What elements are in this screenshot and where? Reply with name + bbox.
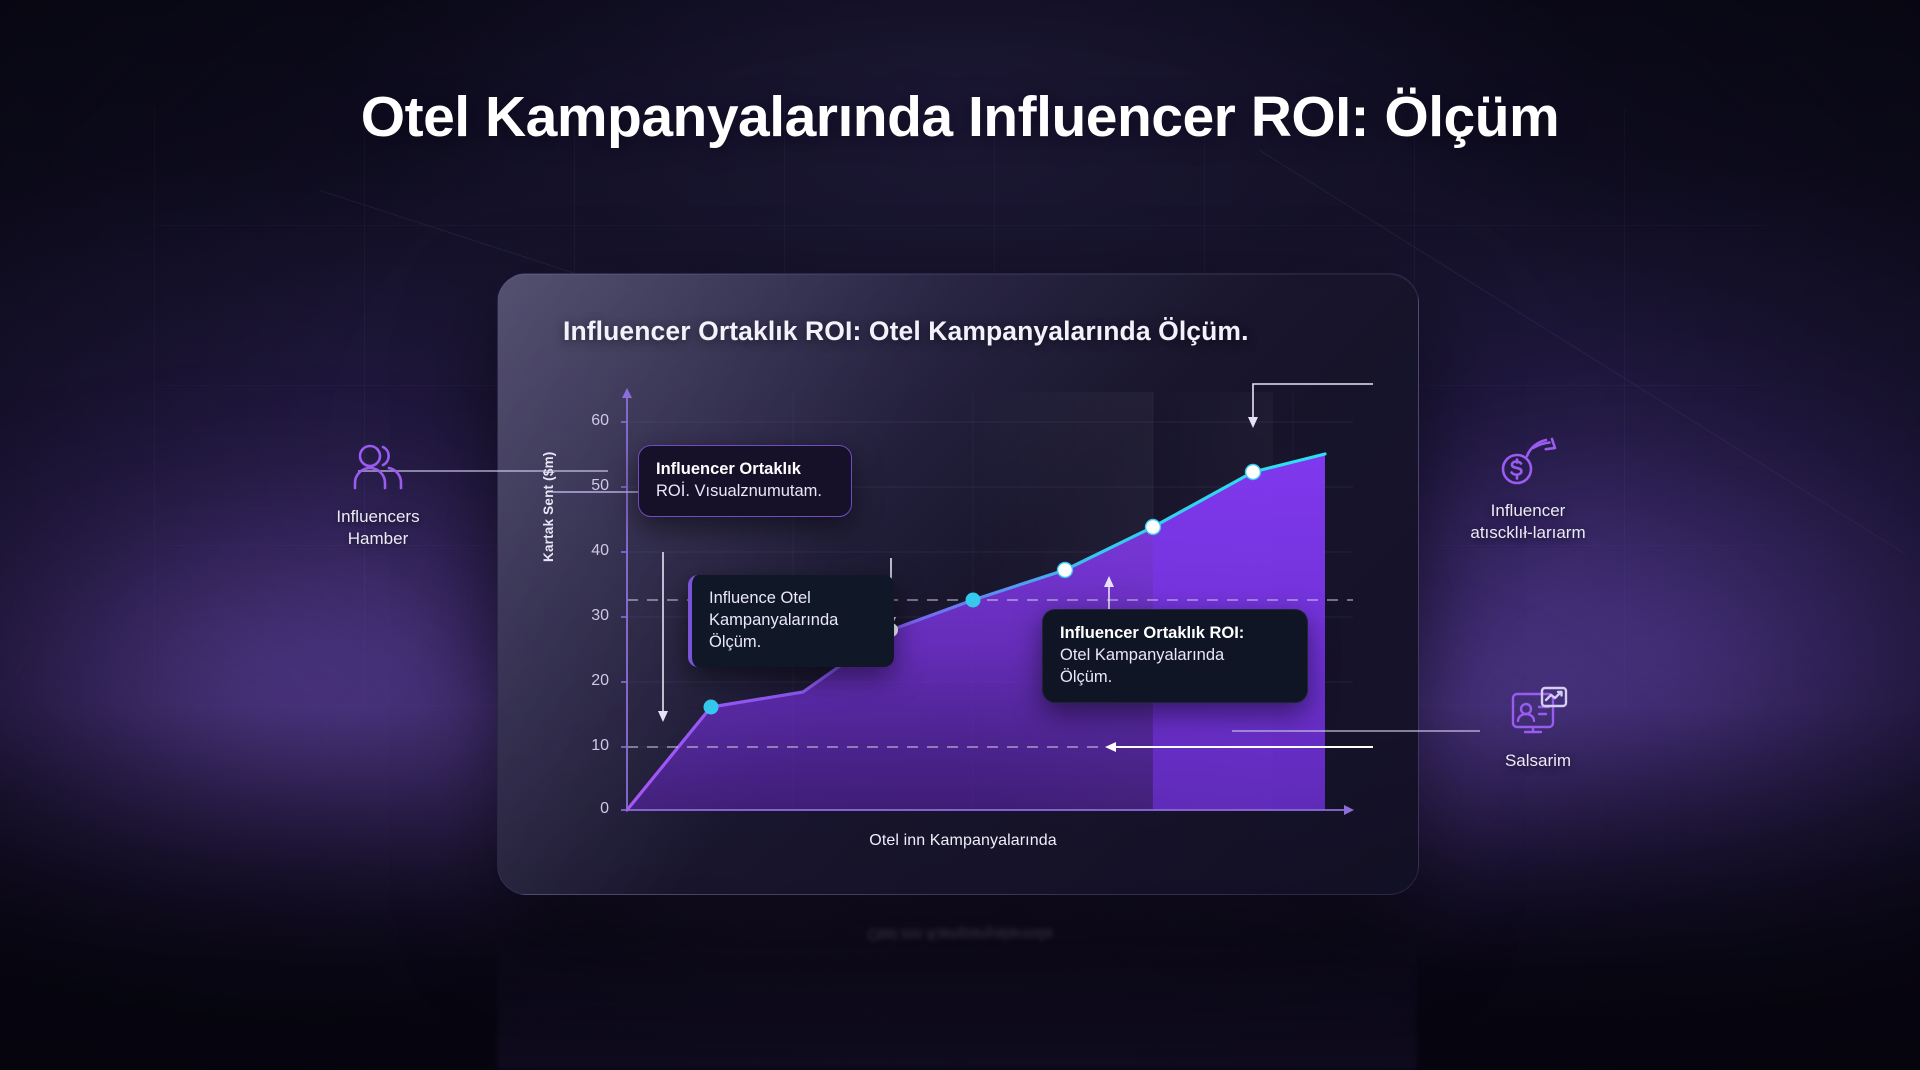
- y-tick-30: 30: [569, 607, 609, 625]
- badge-influencers-line1: Influencers: [278, 506, 478, 528]
- tooltip-top-line1: Influencer Ortaklık: [656, 459, 834, 481]
- tooltip-left-line2: Kampanyalarında: [709, 610, 877, 632]
- tooltip-top-line2: ROİ. Vısualznumutam.: [656, 481, 834, 503]
- badge-roi-line1: Influencer: [1428, 500, 1628, 522]
- badge-salsarim[interactable]: Salsarim: [1438, 678, 1638, 772]
- chart-card: Influencer Ortaklık ROI: Otel Kampanyala…: [497, 273, 1419, 895]
- y-tick-40: 40: [569, 542, 609, 560]
- page-title: Otel Kampanyalarında Influencer ROI: Ölç…: [0, 84, 1920, 150]
- tooltip-left-line3: Ölçüm.: [709, 632, 877, 654]
- tooltip-left-line1: Influence Otel: [709, 588, 877, 610]
- reflection-text: Otel inn Kampanyalarında: [0, 924, 1920, 942]
- badge-roi-caption: Influencer atıscklıł-larıarm: [1428, 500, 1628, 544]
- tooltip-right-line3: Ölçüm.: [1060, 667, 1290, 689]
- tooltip-top[interactable]: Influencer Ortaklık ROİ. Vısualznumutam.: [638, 445, 852, 517]
- y-tick-0: 0: [569, 800, 609, 818]
- badge-salsarim-caption: Salsarim: [1438, 750, 1638, 772]
- badge-influencers[interactable]: Influencers Hamber: [278, 434, 478, 550]
- y-axis-label: Kartak Sent ($m): [541, 452, 556, 562]
- tooltip-right-line2: Otel Kampanyalarında: [1060, 645, 1290, 667]
- y-tick-10: 10: [569, 737, 609, 755]
- tooltip-right-line1: Influencer Ortaklık ROI:: [1060, 623, 1290, 645]
- badge-roi-growth[interactable]: Influencer atıscklıł-larıarm: [1428, 428, 1628, 544]
- users-icon: [278, 434, 478, 496]
- y-tick-60: 60: [569, 412, 609, 430]
- x-axis-label: Otel inn Kampanyalarında: [553, 832, 1373, 850]
- badge-roi-line2: atıscklıł-larıarm: [1428, 522, 1628, 544]
- badge-influencers-caption: Influencers Hamber: [278, 506, 478, 550]
- money-growth-icon: [1428, 428, 1628, 490]
- badge-salsarim-line1: Salsarim: [1438, 750, 1638, 772]
- y-tick-20: 20: [569, 672, 609, 690]
- y-tick-50: 50: [569, 477, 609, 495]
- badge-influencers-line2: Hamber: [278, 528, 478, 550]
- tooltip-right[interactable]: Influencer Ortaklık ROI: Otel Kampanyala…: [1042, 609, 1308, 703]
- profile-chart-icon: [1438, 678, 1638, 740]
- tooltip-left[interactable]: Influence Otel Kampanyalarında Ölçüm.: [688, 575, 894, 667]
- chart-card-title: Influencer Ortaklık ROI: Otel Kampanyala…: [563, 316, 1383, 347]
